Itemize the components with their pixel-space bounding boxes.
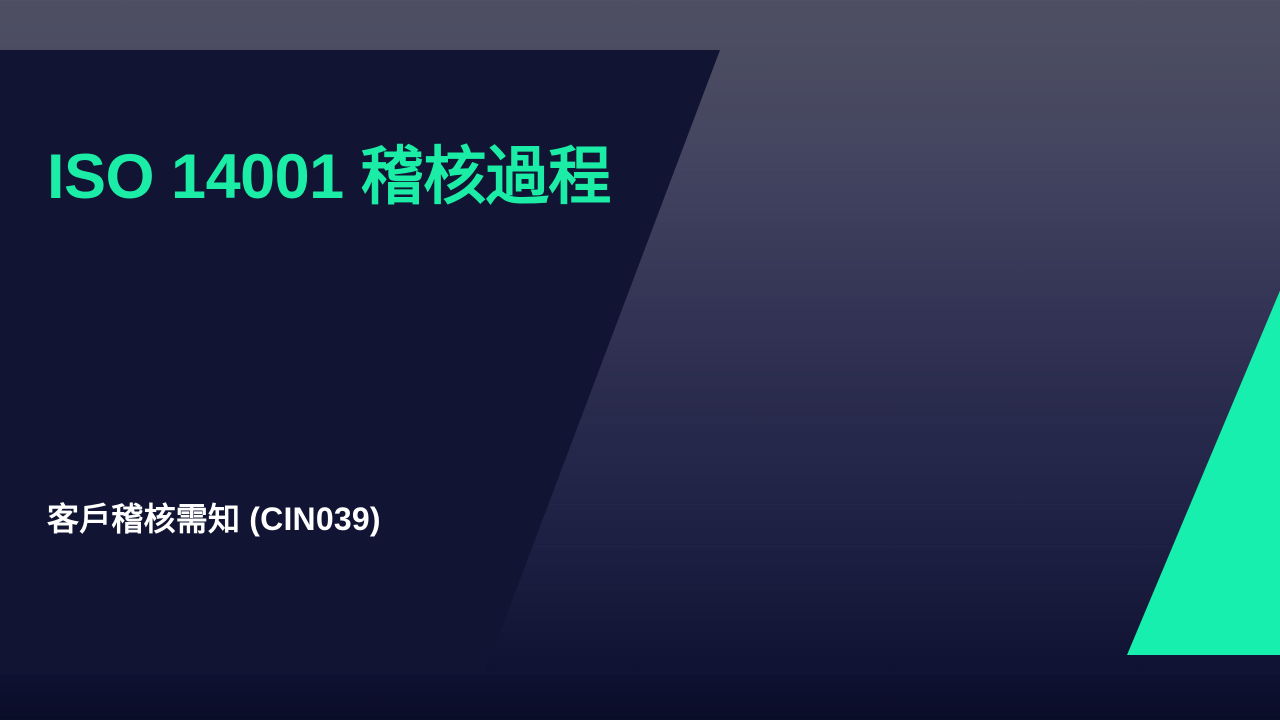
teal-accent-triangle [1100, 230, 1280, 660]
title-panel-content: ISO 14001 稽核過程 客戶稽核需知 (CIN039) [0, 0, 720, 720]
page-title: ISO 14001 稽核過程 [47, 143, 611, 211]
title-slide: ISO 14001 稽核過程 客戶稽核需知 (CIN039) [0, 0, 1280, 720]
page-subtitle: 客戶稽核需知 (CIN039) [47, 500, 381, 538]
